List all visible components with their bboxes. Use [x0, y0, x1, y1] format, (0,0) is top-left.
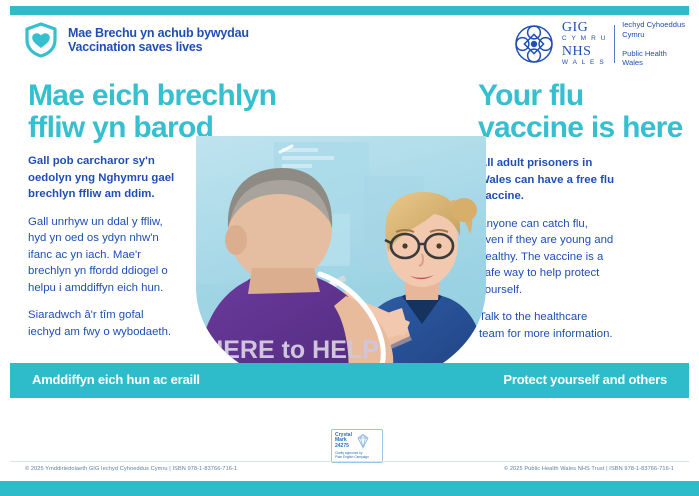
footer-divider [10, 461, 689, 462]
poster-root: Mae Brechu yn achub bywydau Vaccination … [0, 0, 699, 496]
cymru-text: C Y M R U [562, 36, 607, 43]
nhs-wales-logo: GIG C Y M R U NHS W A L E S Iechyd Cyhoe… [513, 20, 685, 68]
bottom-accent-bar [0, 481, 699, 496]
diamond-icon [354, 433, 372, 449]
gig-nhs-block: GIG C Y M R U NHS W A L E S [562, 21, 607, 66]
english-paragraph-2: Talk to the healthcare team for more inf… [479, 309, 639, 342]
welsh-credit: © 2025 Ymddiriedolaeth GIG Iechyd Cyhoed… [25, 466, 237, 472]
crystal-mark-subtitle: Clarity approved by Plain English Campai… [335, 451, 379, 459]
wales-text: W A L E S [562, 60, 607, 67]
gig-text: GIG [562, 21, 607, 35]
english-credit: © 2025 Public Health Wales NHS Trust | I… [504, 466, 674, 472]
nurse-vaccinating-prisoner-photo: HERE to HELP Peer Support [196, 136, 486, 398]
nhs-text: NHS [562, 45, 607, 59]
crystal-mark-top: Crystal Mark 24275 [335, 433, 379, 450]
english-paragraph-1: Anyone can catch flu, even if they are y… [479, 216, 639, 299]
welsh-paragraph-2: Siaradwch â'r tîm gofal iechyd am fwy o … [28, 307, 193, 340]
welsh-body-copy: Gall pob carcharor sy'n oedolyn yng Nghy… [28, 153, 193, 351]
crystal-mark-badge: Crystal Mark 24275 Clarity approved by P… [331, 429, 383, 463]
shield-heart-icon [24, 22, 58, 58]
welsh-band-text: Amddiffyn eich hun ac eraill [32, 372, 200, 387]
top-accent-bar [10, 6, 689, 15]
english-headline: Your flu vaccine is here [478, 80, 688, 144]
brand-tagline: Mae Brechu yn achub bywydau Vaccination … [68, 26, 249, 54]
nhs-wordmark: GIG C Y M R U NHS W A L E S Iechyd Cyhoe… [562, 20, 685, 68]
crystal-mark-title: Crystal Mark 24275 [335, 433, 352, 450]
english-lead-paragraph: All adult prisoners in Wales can have a … [479, 155, 639, 205]
call-to-action-band: Amddiffyn eich hun ac eraill Protect you… [10, 363, 689, 398]
nhs-wales-celtic-knot-icon [513, 23, 555, 65]
poster-header: Mae Brechu yn achub bywydau Vaccination … [10, 22, 689, 66]
welsh-headline: Mae eich brechlyn ffliw yn barod [28, 80, 308, 144]
shirt-text-line1: HERE to HELP [205, 336, 379, 364]
english-body-copy: All adult prisoners in Wales can have a … [479, 155, 639, 353]
welsh-paragraph-1: Gall unrhyw un ddal y ffliw, hyd yn oed … [28, 214, 193, 297]
brand-lockup: Mae Brechu yn achub bywydau Vaccination … [24, 22, 249, 58]
english-band-text: Protect yourself and others [503, 372, 667, 387]
organisation-name: Iechyd Cyhoeddus Cymru Public Health Wal… [622, 20, 685, 68]
logo-divider [614, 25, 615, 63]
welsh-lead-paragraph: Gall pob carcharor sy'n oedolyn yng Nghy… [28, 153, 193, 203]
